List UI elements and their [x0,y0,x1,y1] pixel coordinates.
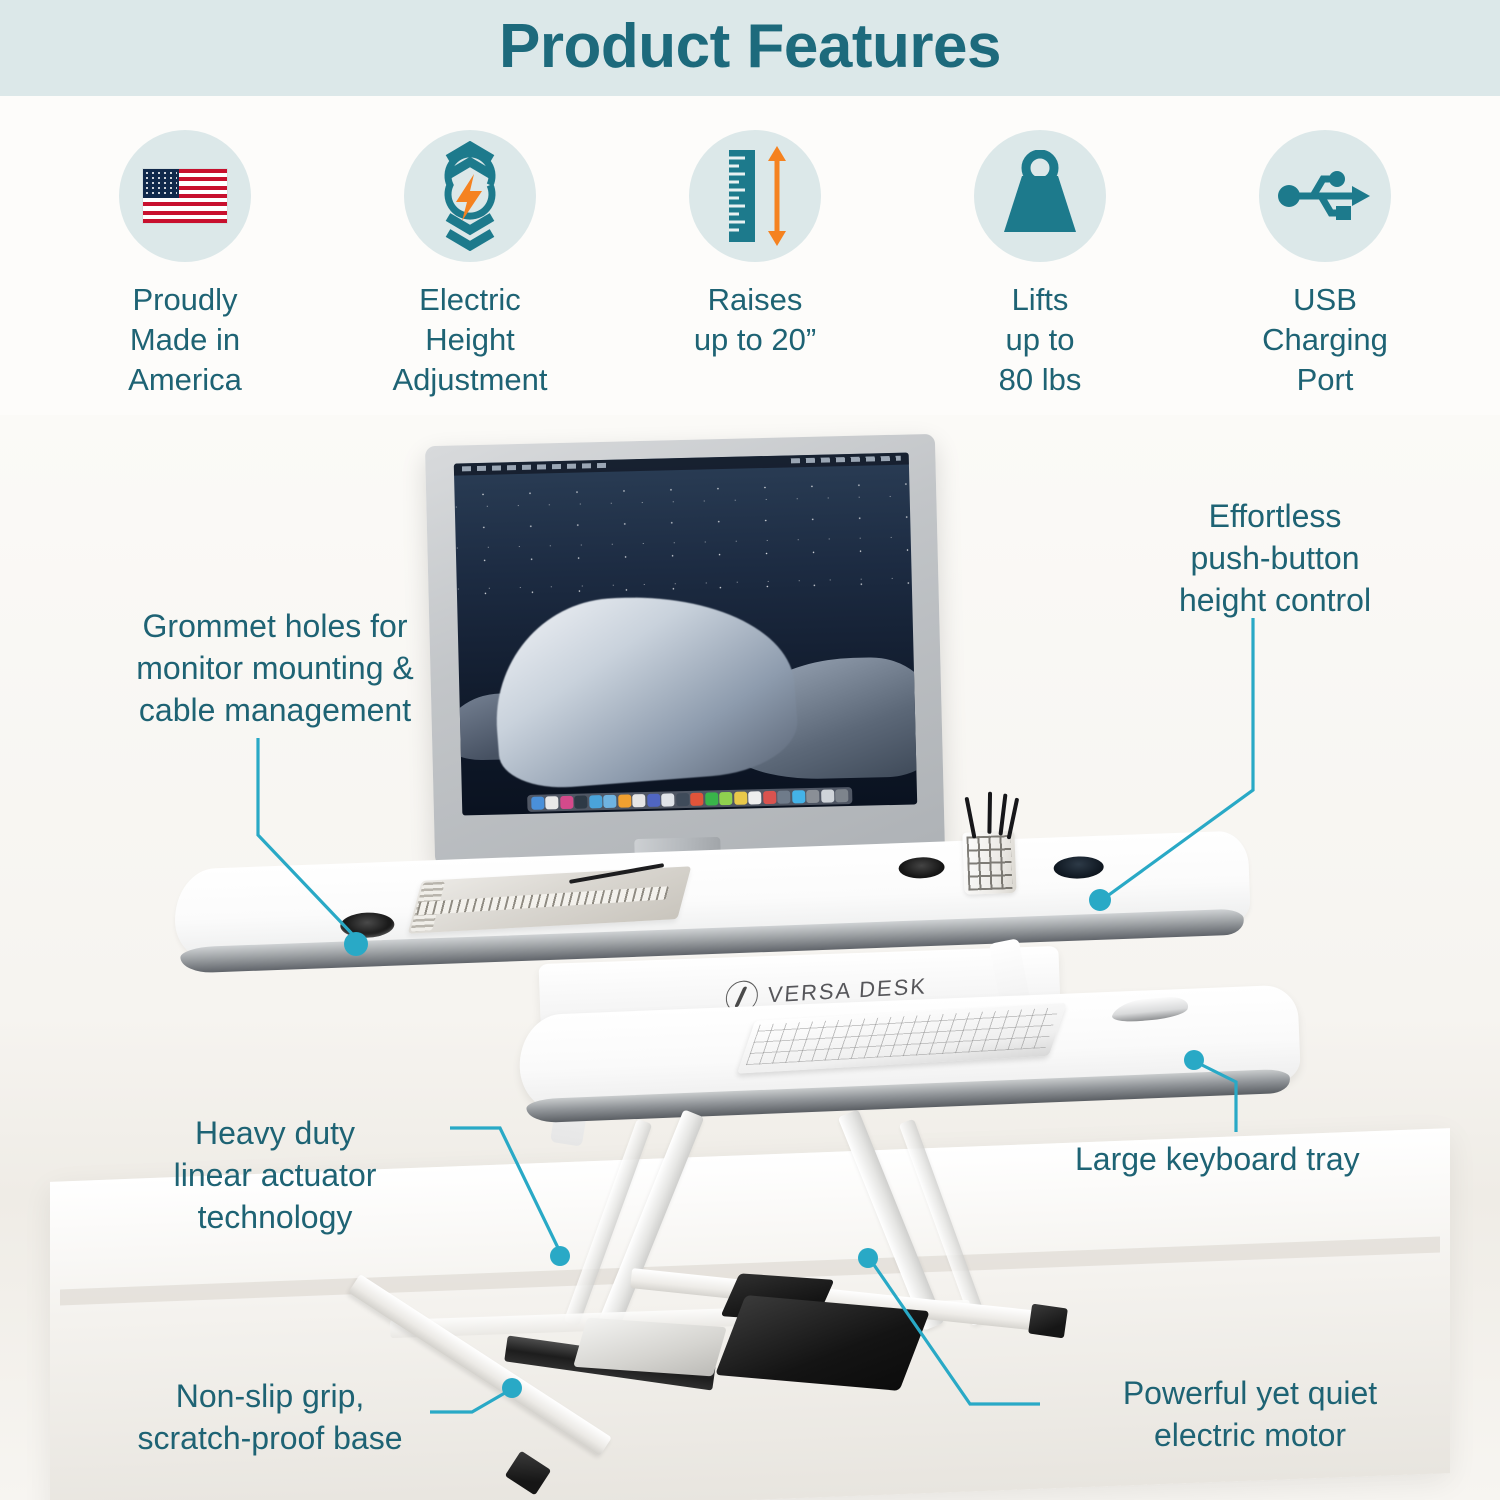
wallpaper-stars [454,464,912,615]
dock-app-icon[interactable] [719,792,732,805]
dock-app-icon[interactable] [661,793,674,806]
feature-raises-height: Raises up to 20” [630,130,880,360]
dock-app-icon[interactable] [705,792,718,805]
page-title: Product Features [0,8,1500,86]
callout-non-slip-base: Non-slip grip, scratch-proof base [90,1375,450,1459]
dock-app-icon[interactable] [647,794,660,807]
feature-usb-port: USB Charging Port [1200,130,1450,400]
feature-electric-height: Electric Height Adjustment [345,130,595,400]
weight-icon [990,150,1090,242]
wallpaper-dune-main [488,585,801,792]
feature-made-in-america: Proudly Made in America [60,130,310,400]
dock-app-icon[interactable] [835,789,848,802]
feature-label: Raises up to 20” [694,280,816,360]
feature-label: Lifts up to 80 lbs [999,280,1082,400]
feature-lift-capacity: Lifts up to 80 lbs [915,130,1165,400]
actuator-bracket [573,1318,727,1377]
dock-app-icon[interactable] [560,796,573,809]
callout-linear-actuator: Heavy duty linear actuator technology [110,1112,440,1238]
feature-icon-row: Proudly Made in America Electric Height … [60,130,1450,400]
feature-icon-disc [404,130,536,262]
feature-label: Proudly Made in America [128,280,242,400]
callout-push-button-control: Effortless push-button height control [1075,495,1475,621]
callout-keyboard-tray: Large keyboard tray [1075,1138,1465,1180]
pen-in-cup [987,792,992,834]
dock-app-icon[interactable] [574,795,587,808]
monitor-screen [454,452,917,815]
dock-app-icon[interactable] [690,793,703,806]
ruler-height-arrow-icon [705,144,805,249]
dock-app-icon[interactable] [632,794,645,807]
dock-app-icon[interactable] [589,795,602,808]
menubar-status-items [791,456,901,464]
non-slip-base-cap-right [1028,1304,1068,1339]
dock-app-icon[interactable] [748,791,761,804]
feature-label: Electric Height Adjustment [392,280,547,400]
dock-app-icon[interactable] [806,790,819,803]
callout-grommet-holes: Grommet holes for monitor mounting & cab… [70,605,480,731]
dock-app-icon[interactable] [763,791,776,804]
feature-icon-disc [974,130,1106,262]
us-flag-icon [143,169,227,223]
pen-holder-cup [962,831,1016,895]
dock-app-icon[interactable] [545,796,558,809]
feature-label: USB Charging Port [1262,280,1388,400]
dock-app-icon[interactable] [531,797,544,810]
dock-app-icon[interactable] [792,790,805,803]
usb-icon [1273,159,1377,233]
feature-icon-disc [689,130,821,262]
dock-app-icon[interactable] [618,794,631,807]
callout-electric-motor: Powerful yet quiet electric motor [1050,1372,1450,1456]
electric-motor [715,1295,930,1391]
electric-height-icon [420,141,520,251]
menubar-items [462,463,612,472]
dock-app-icon[interactable] [603,795,616,808]
dock-app-icon[interactable] [821,789,834,802]
feature-icon-disc [1259,130,1391,262]
dock-app-icon[interactable] [734,792,747,805]
dock-app-icon[interactable] [676,793,689,806]
dock-app-icon[interactable] [777,790,790,803]
feature-icon-disc [119,130,251,262]
product-features-infographic: Product Features Proudly Made in America [0,0,1500,1500]
